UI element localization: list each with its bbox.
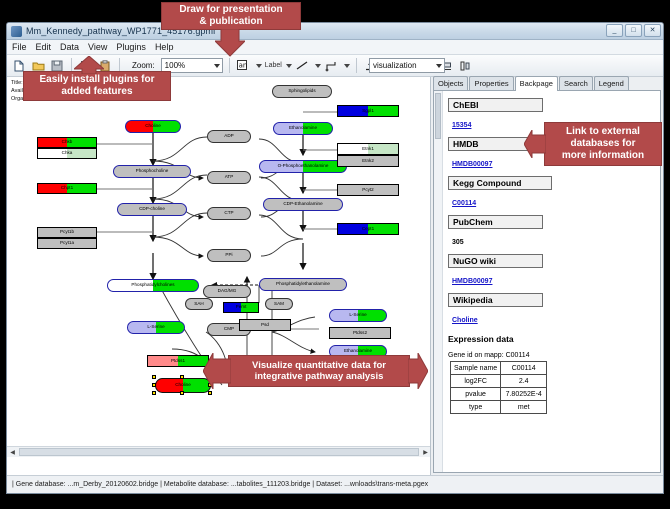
- scroll-left-icon[interactable]: ◀: [7, 447, 18, 458]
- selection-handle[interactable]: [208, 391, 212, 395]
- backpage-scrollbar[interactable]: [434, 91, 443, 472]
- tab-search[interactable]: Search: [559, 76, 593, 90]
- callout-draw-arrow: [215, 29, 245, 57]
- metabolite-node-phosphocholine[interactable]: Phosphocholine: [113, 165, 191, 178]
- menu-data[interactable]: Data: [60, 42, 79, 52]
- metabolite-node-choline-top[interactable]: Choline: [125, 120, 181, 133]
- metabolite-node-cdp-ethanolamine[interactable]: CDP-Ethanolamine: [263, 198, 343, 211]
- selection-handle[interactable]: [180, 391, 184, 395]
- scroll-thumb[interactable]: [19, 448, 419, 456]
- expr-key-sample-name: Sample name: [451, 362, 501, 375]
- db-header-chebi: ChEBI: [448, 98, 543, 112]
- visualization-combobox[interactable]: visualization: [369, 58, 445, 73]
- selection-handle[interactable]: [152, 375, 156, 379]
- chevron-down-icon[interactable]: [315, 64, 321, 68]
- zoom-label: Zoom:: [132, 61, 155, 70]
- menubar: File Edit Data View Plugins Help: [7, 40, 663, 55]
- menu-edit[interactable]: Edit: [36, 42, 52, 52]
- metabolite-node-phosphatidylethanolamine[interactable]: Phosphatidylethanolamine: [259, 278, 347, 291]
- callout-draw-for-publication: Draw for presentation & publication: [161, 2, 301, 30]
- expr-key-pvalue: pvalue: [451, 388, 501, 401]
- tab-legend[interactable]: Legend: [594, 76, 629, 90]
- gene-node-pcyt1a[interactable]: Pcyt1a: [37, 238, 97, 249]
- expression-table: Sample name C00114 log2FC 2.4 pvalue 7.8…: [450, 361, 547, 414]
- gene-node-pemt[interactable]: Pemt: [223, 302, 259, 313]
- menu-file[interactable]: File: [12, 42, 27, 52]
- metabolite-node-sam[interactable]: SAM: [265, 298, 293, 310]
- metabolite-node-sah[interactable]: SAH: [185, 298, 213, 310]
- tab-backpage[interactable]: Backpage: [515, 76, 558, 91]
- db-link-kegg-compound[interactable]: C00114: [452, 200, 476, 207]
- menu-plugins[interactable]: Plugins: [116, 42, 146, 52]
- gene-node-psd[interactable]: Psd: [239, 319, 291, 331]
- gene-node-chpt1[interactable]: Chpt1: [37, 183, 97, 194]
- db-header-nugo-wiki: NuGO wiki: [448, 254, 543, 268]
- metabolite-node-l-serine-left[interactable]: L-Serine: [127, 321, 185, 334]
- gene-node-etnk2[interactable]: Etnk2: [337, 155, 399, 167]
- chevron-down-icon: [436, 64, 442, 68]
- gene-node-sgpl1[interactable]: Sgpl1: [337, 105, 399, 117]
- pathway-canvas[interactable]: Title: Availa Organi: [7, 77, 431, 475]
- expr-key-type: type: [451, 401, 501, 414]
- scroll-right-icon[interactable]: ▶: [420, 447, 431, 458]
- table-row: type met: [451, 401, 547, 414]
- gene-node-ptdss1[interactable]: Ptdss1: [147, 355, 209, 367]
- selection-handle[interactable]: [152, 383, 156, 387]
- expr-val-type: met: [501, 401, 547, 414]
- metabolite-node-ctp[interactable]: CTP: [207, 207, 251, 220]
- metabolite-node-l-serine-right[interactable]: L-Serine: [329, 309, 387, 322]
- gene-node-cept1[interactable]: Cept1: [337, 223, 399, 235]
- table-row: Sample name C00114: [451, 362, 547, 375]
- visualization-value: visualization: [373, 61, 417, 70]
- expr-val-sample-name: C00114: [501, 362, 547, 375]
- expr-val-log2fc: 2.4: [501, 375, 547, 388]
- expr-key-log2fc: log2FC: [451, 375, 501, 388]
- table-row: log2FC 2.4: [451, 375, 547, 388]
- callout-visualize-right-arrow: [408, 353, 428, 389]
- chevron-down-icon[interactable]: [256, 64, 262, 68]
- chevron-down-icon: [214, 64, 220, 68]
- gene-node-chka[interactable]: Chka: [37, 148, 97, 159]
- zoom-value: 100%: [165, 61, 185, 70]
- db-link-wikipedia[interactable]: Choline: [452, 317, 478, 324]
- label-tool-label[interactable]: Label: [265, 62, 282, 69]
- metabolite-node-dagmg[interactable]: DAG/MG: [203, 285, 251, 298]
- chevron-down-icon[interactable]: [286, 64, 292, 68]
- db-header-wikipedia: Wikipedia: [448, 293, 543, 307]
- gene-id-label: Gene id on mapp: C00114: [448, 352, 654, 359]
- pathway-diagram: ADP ATP CTP PPi DAG/MG CMP Sphingolipids…: [7, 77, 431, 475]
- gene-node-chkb[interactable]: Chkb: [37, 137, 97, 148]
- chevron-down-icon[interactable]: [344, 64, 350, 68]
- menu-view[interactable]: View: [88, 42, 107, 52]
- connector-tool-icon[interactable]: [324, 58, 340, 74]
- toolbar-separator: [356, 58, 357, 73]
- db-link-hmdb[interactable]: HMDB00097: [452, 161, 492, 168]
- db-link-nugo-wiki[interactable]: HMDB00097: [452, 278, 492, 285]
- status-text: | Gene database: ...m_Derby_20120602.bri…: [12, 481, 428, 488]
- callout-link-databases: Link to external databases for more info…: [544, 122, 662, 166]
- window-controls: _ □ ✕: [606, 24, 661, 37]
- metabolite-node-atp[interactable]: ATP: [207, 171, 251, 184]
- callout-plugins-arrow: [74, 56, 104, 74]
- callout-link-arrow: [524, 130, 546, 158]
- menu-help[interactable]: Help: [155, 42, 174, 52]
- toolbar-separator: [229, 58, 230, 73]
- selection-handle[interactable]: [180, 375, 184, 379]
- metabolite-node-ethanolamine-top[interactable]: Ethanolamine: [273, 122, 333, 135]
- tab-properties[interactable]: Properties: [469, 76, 513, 90]
- canvas-horizontal-scrollbar[interactable]: ◀ ▶: [7, 446, 431, 457]
- maximize-button[interactable]: □: [625, 24, 642, 37]
- gene-node-pcyt2[interactable]: Pcyt2: [337, 184, 399, 196]
- table-row: pvalue 7.80252E-4: [451, 388, 547, 401]
- side-panel-tabs: Objects Properties Backpage Search Legen…: [433, 77, 661, 91]
- callout-install-plugins: Easily install plugins for added feature…: [23, 71, 171, 101]
- gene-node-etnk1[interactable]: Etnk1: [337, 143, 399, 155]
- line-tool-icon[interactable]: [295, 58, 311, 74]
- gene-node-pcyt1b[interactable]: Pcyt1b: [37, 227, 97, 238]
- minimize-button[interactable]: _: [606, 24, 623, 37]
- db-header-kegg-compound: Kegg Compound: [448, 176, 552, 190]
- expression-data-heading: Expression data: [448, 334, 654, 344]
- db-header-pubchem: PubChem: [448, 215, 543, 229]
- svg-text:an: an: [239, 62, 248, 70]
- callout-visualize-left-arrow: [203, 353, 231, 389]
- selection-handle[interactable]: [152, 391, 156, 395]
- scroll-thumb[interactable]: [435, 93, 441, 139]
- metabolite-node-o-phosphoethanolamine[interactable]: O-Phosphoethanolamine: [259, 160, 347, 173]
- text-tool-icon[interactable]: an: [236, 58, 252, 74]
- metabolite-node-ppi[interactable]: PPi: [207, 249, 251, 262]
- callout-visualize-data: Visualize quantitative data for integrat…: [228, 355, 410, 387]
- screenshot-root: Mm_Kennedy_pathway_WP1771_45176.gpml _ □…: [0, 0, 670, 509]
- size-height-icon[interactable]: [458, 58, 474, 74]
- db-value-pubchem: 305: [452, 239, 464, 246]
- close-button[interactable]: ✕: [644, 24, 661, 37]
- tab-objects[interactable]: Objects: [433, 76, 468, 90]
- expr-val-pvalue: 7.80252E-4: [501, 388, 547, 401]
- metabolite-node-sphingolipids[interactable]: Sphingolipids: [272, 85, 332, 98]
- metabolite-node-phosphatidylcholines[interactable]: Phosphatidylcholines: [107, 279, 199, 292]
- metabolite-node-cdp-choline[interactable]: CDP-choline: [117, 203, 187, 216]
- db-link-chebi[interactable]: 15354: [452, 122, 471, 129]
- metabolite-node-adp[interactable]: ADP: [207, 130, 251, 143]
- app-icon: [11, 26, 22, 37]
- gene-node-ptdss2[interactable]: Ptdss2: [329, 327, 391, 339]
- window-titlebar: Mm_Kennedy_pathway_WP1771_45176.gpml _ □…: [7, 23, 663, 40]
- status-bar: | Gene database: ...m_Derby_20120602.bri…: [7, 475, 663, 493]
